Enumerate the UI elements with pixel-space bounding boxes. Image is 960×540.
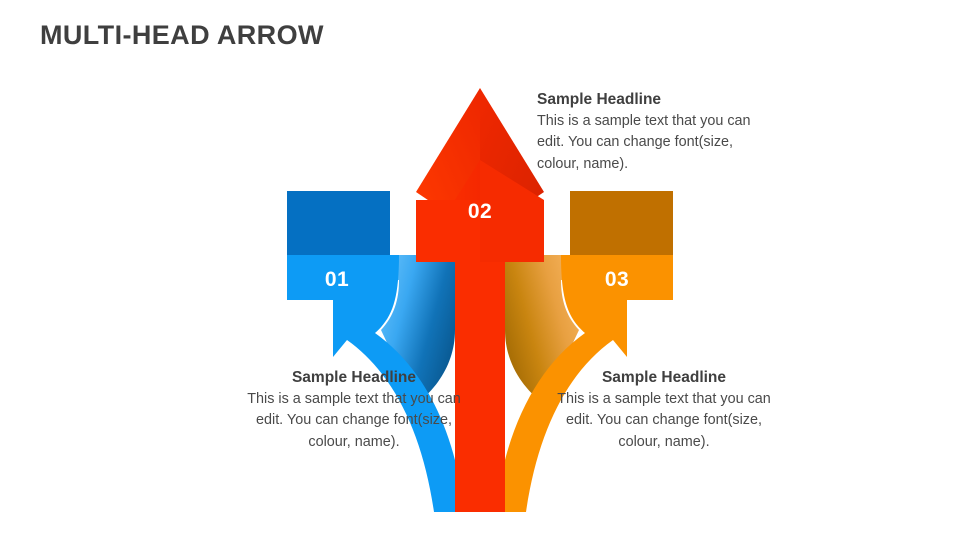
text-block-01[interactable]: Sample Headline This is a sample text th… — [243, 368, 465, 453]
body-text-02: This is a sample text that you can edit.… — [537, 111, 763, 174]
multi-head-arrow-diagram — [0, 0, 960, 540]
headline-02: Sample Headline — [537, 90, 763, 110]
arrow-graphic-svg — [0, 0, 960, 540]
step-number-01: 01 — [314, 268, 360, 292]
slide-canvas: MULTI-HEAD ARROW — [0, 0, 960, 540]
headline-03: Sample Headline — [553, 368, 775, 388]
headline-01: Sample Headline — [243, 368, 465, 388]
body-text-03: This is a sample text that you can edit.… — [553, 389, 775, 452]
branch-01-top-plate — [287, 191, 390, 255]
branch-03-top-plate — [570, 191, 673, 255]
text-block-02[interactable]: Sample Headline This is a sample text th… — [537, 90, 763, 175]
step-number-02: 02 — [457, 200, 503, 224]
text-block-03[interactable]: Sample Headline This is a sample text th… — [553, 368, 775, 453]
step-number-03: 03 — [594, 268, 640, 292]
body-text-01: This is a sample text that you can edit.… — [243, 389, 465, 452]
